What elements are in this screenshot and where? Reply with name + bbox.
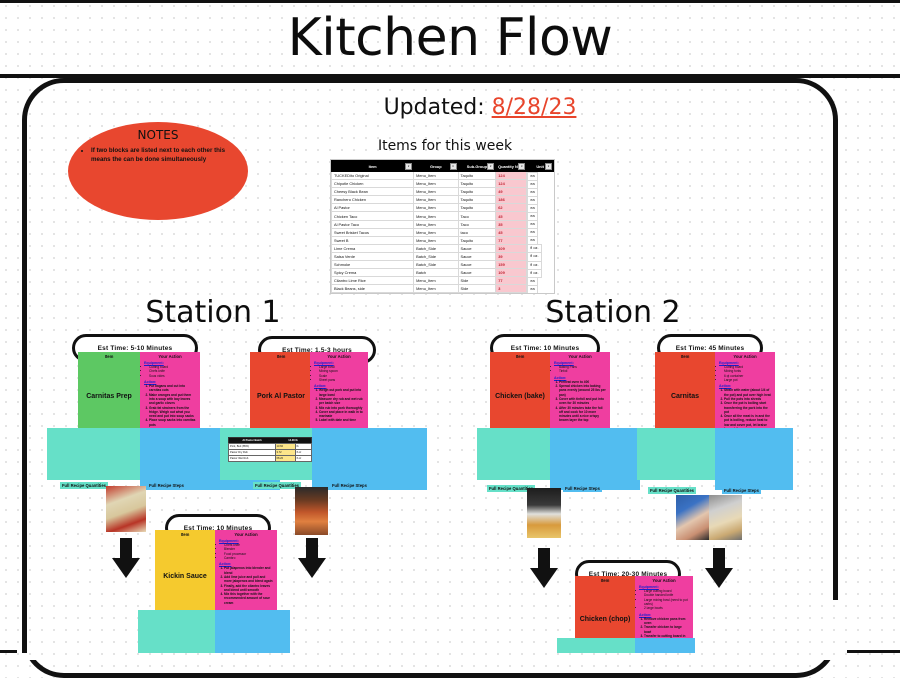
frame-left-leg xyxy=(22,595,27,653)
col-group[interactable]: Group▾ xyxy=(414,161,458,172)
table-row[interactable]: Lime CremaBatch_SideSauce109fl oz. xyxy=(332,244,554,252)
filter-icon[interactable]: ▾ xyxy=(545,163,552,170)
cell-unit: ea xyxy=(527,293,537,294)
item-column-header: Item xyxy=(575,576,635,586)
updated-line: Updated: 8/28/23 xyxy=(330,95,630,120)
cell-sub: Sauce xyxy=(458,261,496,269)
action-item: Label with date and time xyxy=(319,418,364,422)
item-column-header: Item xyxy=(155,530,215,540)
action-item: Put bagans and cut into carnitas cuts xyxy=(149,384,196,393)
cell-qty: 109 xyxy=(496,269,527,277)
cell-sub: Taquito xyxy=(458,236,496,244)
cell-qty: 45 xyxy=(496,212,527,220)
cell-sub: Taquito xyxy=(458,172,496,180)
col-group-label: Group xyxy=(430,164,442,169)
cell-qty: 77 xyxy=(496,236,527,244)
full-recipe-steps-carnitas[interactable] xyxy=(715,428,793,490)
cell-qty: 39 xyxy=(496,252,527,260)
cell-sub: Taquito xyxy=(458,196,496,204)
table-row[interactable]: TUCKEDito OriginalMenu_ItemTaquito124ea xyxy=(332,172,554,180)
table-header-row: Item▾ Group▾ Sub-Group▾ Quantity Need▾ U… xyxy=(332,161,554,172)
action-card-kickin-sauce[interactable]: Equipment:Chefs knifeBlenderFood process… xyxy=(215,536,277,612)
action-item: Measure dry rub and wet rub per batch si… xyxy=(319,397,364,406)
filter-icon[interactable]: ▾ xyxy=(487,163,494,170)
item-column-header: Item xyxy=(490,352,550,362)
items-table-title: Items for this week xyxy=(330,138,560,154)
items-spreadsheet[interactable]: Item▾ Group▾ Sub-Group▾ Quantity Need▾ U… xyxy=(330,159,555,294)
col-subgroup[interactable]: Sub-Group▾ xyxy=(458,161,496,172)
filter-icon[interactable]: ▾ xyxy=(405,163,412,170)
action-card-carnitas[interactable]: Equipment:Cutting boardMixing forks6 qt … xyxy=(715,358,775,432)
action-list: Put jalapenos into blender and blendAdd … xyxy=(219,566,273,605)
item-column-header: Item xyxy=(78,352,140,362)
batch-row: Pastor Wet Rub68.20fl oz xyxy=(229,456,312,462)
action-card-carnitas-prep[interactable]: Equipment:Cutting boardChefs knifeSous v… xyxy=(140,358,200,432)
cell-sub: Side xyxy=(458,285,496,293)
col-unit[interactable]: Unit▾ xyxy=(527,161,554,172)
batch-cell: Pastor Wet Rub xyxy=(229,456,276,462)
table-row[interactable]: Al Pastor TacoMenu_ItemTaco35ea xyxy=(332,220,554,228)
action-card-chicken-chop[interactable]: Equipment:Large cutting boardDouble hand… xyxy=(635,582,693,646)
cell-item: Citrus Sweet Corn xyxy=(332,293,414,294)
action-item: Cover with tinfoil and put into oven for… xyxy=(559,397,606,406)
action-card-chicken-bake[interactable]: Equipment:Baking PansTinfoilAction:Prehe… xyxy=(550,358,610,432)
cell-grp: Menu_Item xyxy=(414,212,458,220)
photo-pork-al-pastor xyxy=(295,487,328,535)
action-item: Add lime juice and pull and more jalapen… xyxy=(224,575,273,584)
action-item: Remove chicken pans from oven xyxy=(644,617,689,626)
equipment-list: Large cutting boardDouble handed knifeLa… xyxy=(639,589,689,611)
table-row[interactable]: Citrus Sweet CornMenu_ItemSide52ea xyxy=(332,293,554,294)
station-1-heading: Station 1 xyxy=(103,295,323,330)
arrow-station1-right xyxy=(298,538,326,580)
cell-item: Black Beans, side xyxy=(332,285,414,293)
table-row[interactable]: Sweet BMenu_ItemTaquito77ea xyxy=(332,236,554,244)
col-item-label: Item xyxy=(369,164,377,169)
cell-qty: 186 xyxy=(496,196,527,204)
table-row[interactable]: Chicken TacoMenu_ItemTaco45ea xyxy=(332,212,554,220)
filter-icon[interactable]: ▾ xyxy=(518,163,525,170)
equipment-item: Tinfoil xyxy=(559,369,606,373)
table-row[interactable]: Salsa VerdeBatch_SideSauce39fl oz. xyxy=(332,252,554,260)
full-recipe-quantities-label: Full Recipe Quantities xyxy=(60,482,108,489)
table-row[interactable]: Black Beans, sideMenu_ItemSide3ea xyxy=(332,285,554,293)
photo-chicken-bake xyxy=(527,488,561,538)
item-name: Pork Al Pastor xyxy=(257,393,305,400)
table-row[interactable]: Al PastorMenu_ItemTaquito62ea xyxy=(332,204,554,212)
cell-qty: 35 xyxy=(496,220,527,228)
action-item: Put jalapenos into blender and blend xyxy=(224,566,273,575)
action-item: Spread chicken into baking pans evenly (… xyxy=(559,384,606,397)
notes-title: NOTES xyxy=(138,128,179,142)
item-column-header: Item xyxy=(655,352,715,362)
equipment-item: Sheet pans xyxy=(319,378,364,382)
table-row[interactable]: Chipotle ChickenMenu_ItemTaquito124ea xyxy=(332,180,554,188)
table-row[interactable]: Cheesy Black BeanMenu_ItemTaquito49ea xyxy=(332,188,554,196)
cell-item: Sweet Brisket Tacos xyxy=(332,228,414,236)
cell-sub: Taco xyxy=(458,220,496,228)
cell-item: TUCKEDito Original xyxy=(332,172,414,180)
cell-grp: Menu_Item xyxy=(414,236,458,244)
cell-sub: Side xyxy=(458,293,496,294)
photo-carnitas-prep xyxy=(106,486,146,532)
cell-item: Salsa Verde xyxy=(332,252,414,260)
action-list: Strain with water (about 1/4 of the pot)… xyxy=(719,388,771,431)
full-recipe-steps-label: Full Recipe Steps xyxy=(563,485,602,492)
col-subgroup-label: Sub-Group xyxy=(467,164,487,169)
cell-qty: 77 xyxy=(496,277,527,285)
station-2-heading: Station 2 xyxy=(503,295,723,330)
batch-cell: 68.20 xyxy=(275,456,295,462)
col-quantity[interactable]: Quantity Need▾ xyxy=(496,161,527,172)
cell-qty: 124 xyxy=(496,180,527,188)
cell-item: Spicy Crema xyxy=(332,269,414,277)
cell-grp: Menu_Item xyxy=(414,180,458,188)
cell-grp: Batch xyxy=(414,269,458,277)
cell-sub: taco xyxy=(458,228,496,236)
full-recipe-steps-kickin-sauce[interactable] xyxy=(215,610,290,653)
cell-qty: 159 xyxy=(496,261,527,269)
cell-item: Chipotle Chicken xyxy=(332,180,414,188)
cell-sub: Sauce xyxy=(458,244,496,252)
cell-sub: Sauce xyxy=(458,269,496,277)
action-list: Weigh out pork and put into large bowlMe… xyxy=(314,388,364,423)
item-name: Carnitas Prep xyxy=(86,393,132,400)
table-row[interactable]: Ranchero ChickenMenu_ItemTaquito186ea xyxy=(332,196,554,204)
action-item: Strain with water (about 1/4 of the pot)… xyxy=(724,388,771,397)
filter-icon[interactable]: ▾ xyxy=(450,163,457,170)
full-recipe-steps-chicken-chop[interactable] xyxy=(635,638,695,653)
cell-grp: Menu_Item xyxy=(414,277,458,285)
cell-item: Al Pastor Taco xyxy=(332,220,414,228)
cell-grp: Menu_Item xyxy=(414,172,458,180)
action-card-pork-al-pastor[interactable]: Equipment:Large bowlMixing spoonScaleShe… xyxy=(310,358,368,432)
cell-sub: Side xyxy=(458,277,496,285)
equipment-list: Cutting boardMixing forks6 qt containerL… xyxy=(719,365,771,382)
notes-item: If two blocks are listed next to each ot… xyxy=(91,146,241,165)
full-recipe-steps-chicken-bake[interactable] xyxy=(550,428,640,490)
equipment-item: Sous vides xyxy=(149,374,196,378)
cell-sub: Sauce xyxy=(458,252,496,260)
item-card-chicken-bake[interactable]: Chicken (bake) xyxy=(490,362,550,430)
action-item: Once the pot is boiling start transferri… xyxy=(724,401,771,414)
notes-bubble: NOTES If two blocks are listed next to e… xyxy=(68,122,248,220)
cell-qty: 3 xyxy=(496,285,527,293)
cell-grp: Menu_Item xyxy=(414,204,458,212)
est-time-label: Est Time: 45 Minutes xyxy=(676,345,745,352)
arrow-station1-left xyxy=(112,538,140,580)
cell-qty: 52 xyxy=(496,293,527,294)
batch-cell: fl oz xyxy=(295,456,311,462)
item-card-kickin-sauce[interactable]: Kickin Sauce xyxy=(155,540,215,612)
cell-grp: Menu_Item xyxy=(414,220,458,228)
full-recipe-steps-label: Full Recipe Steps xyxy=(722,487,761,494)
item-card-pork-al-pastor[interactable]: Pork Al Pastor xyxy=(250,362,312,430)
col-item[interactable]: Item▾ xyxy=(332,161,414,172)
equipment-item: Cambro xyxy=(224,556,273,560)
cell-grp: Menu_Item xyxy=(414,196,458,204)
item-card-carnitas[interactable]: Carnitas xyxy=(655,362,715,430)
action-list: Preheat oven to 400Spread chicken into b… xyxy=(554,380,606,423)
item-name: Kickin Sauce xyxy=(163,573,207,580)
cell-item: Cheesy Black Bean xyxy=(332,188,414,196)
items-table: Item▾ Group▾ Sub-Group▾ Quantity Need▾ U… xyxy=(331,160,554,294)
equipment-item: Large mixing bowl (need to put carbs) xyxy=(644,598,689,607)
item-card-carnitas-prep[interactable]: Carnitas Prep xyxy=(78,362,140,430)
cell-item: Cilantro Lime Rice xyxy=(332,277,414,285)
cell-item: Ranchero Chicken xyxy=(332,196,414,204)
full-recipe-steps-label: Full Recipe Steps xyxy=(147,482,186,489)
page-title: Kitchen Flow xyxy=(0,8,900,68)
cell-qty: 62 xyxy=(496,204,527,212)
equipment-item: Large pot xyxy=(724,378,771,382)
cell-qty: 49 xyxy=(496,188,527,196)
table-row[interactable]: Spicy CremaBatchSauce109fl oz. xyxy=(332,269,554,277)
photo-carnitas-b xyxy=(709,495,742,540)
table-row[interactable]: SchmokeBatch_SideSauce159fl oz. xyxy=(332,261,554,269)
action-item: Transfer chicken to large bowl xyxy=(644,625,689,634)
full-recipe-steps-label: Full Recipe Steps xyxy=(330,482,369,489)
cell-item: Schmoke xyxy=(332,261,414,269)
cell-item: Al Pastor xyxy=(332,204,414,212)
cell-grp: Batch_Side xyxy=(414,244,458,252)
equipment-list: Cutting boardChefs knifeSous vides xyxy=(144,365,196,378)
cell-qty: 124 xyxy=(496,172,527,180)
updated-date[interactable]: 8/28/23 xyxy=(492,95,577,120)
equipment-list: Large bowlMixing spoonScaleSheet pans xyxy=(314,365,364,382)
equipment-item: 2 large bowls xyxy=(644,606,689,610)
item-column-header: Item xyxy=(250,352,312,362)
cell-grp: Menu_Item xyxy=(414,285,458,293)
table-row[interactable]: Sweet Brisket TacosMenu_Itemtaco45ea xyxy=(332,228,554,236)
cell-sub: Taco xyxy=(458,212,496,220)
cell-grp: Menu_Item xyxy=(414,228,458,236)
col-unit-label: Unit xyxy=(536,164,544,169)
action-item: Grab fat strainers from the fridge. Weig… xyxy=(149,406,196,419)
action-list: Put bagans and cut into carnitas cutsMak… xyxy=(144,384,196,427)
item-name: Chicken (bake) xyxy=(495,393,545,400)
full-recipe-quantities-label: Full Recipe Quantities xyxy=(648,487,696,494)
cell-grp: Batch_Side xyxy=(414,261,458,269)
full-recipe-quantities-label: Full Recipe Quantities xyxy=(253,482,301,489)
action-item: Cover and place in walk in to marinate xyxy=(319,410,364,419)
item-name: Carnitas xyxy=(671,393,699,400)
action-item: Place soup sacks into carnitas pots xyxy=(149,418,196,427)
items-table-body: TUCKEDito OriginalMenu_ItemTaquito124eaC… xyxy=(332,172,554,295)
batch-table-pork-al-pastor: Al Pastor Batch14.00 lbPork, Butt (85%)1… xyxy=(228,437,312,462)
equipment-list: Baking PansTinfoil xyxy=(554,365,606,374)
item-name: Chicken (chop) xyxy=(580,616,631,623)
equipment-list: Chefs knifeBlenderFood processorCambro xyxy=(219,543,273,560)
top-rule xyxy=(0,0,900,3)
cell-qty: 45 xyxy=(496,228,527,236)
full-recipe-steps-pork-al-pastor[interactable] xyxy=(312,428,427,490)
cell-qty: 109 xyxy=(496,244,527,252)
notes-list: If two blocks are listed next to each ot… xyxy=(75,146,241,165)
table-row[interactable]: Cilantro Lime RiceMenu_ItemSide77ea xyxy=(332,277,554,285)
est-time-label: Est Time: 10 Minutes xyxy=(511,345,580,352)
updated-label: Updated: xyxy=(384,95,485,120)
action-item: Weigh out pork and put into large bowl xyxy=(319,388,364,397)
action-item: Mix this together with the recommended a… xyxy=(224,592,273,605)
cell-grp: Menu_Item xyxy=(414,293,458,294)
action-item: After 30 minutes take the foil off and c… xyxy=(559,406,606,423)
est-time-label: Est Time: 5-10 Minutes xyxy=(98,345,173,352)
cell-sub: Taquito xyxy=(458,204,496,212)
arrow-station2-left xyxy=(530,548,558,590)
cell-grp: Batch_Side xyxy=(414,252,458,260)
cell-item: Lime Crema xyxy=(332,244,414,252)
cell-item: Chicken Taco xyxy=(332,212,414,220)
cell-item: Sweet B xyxy=(332,236,414,244)
photo-carnitas-a xyxy=(676,495,709,540)
cell-sub: Taquito xyxy=(458,188,496,196)
cell-sub: Taquito xyxy=(458,180,496,188)
arrow-station2-right xyxy=(705,548,733,590)
cell-grp: Menu_Item xyxy=(414,188,458,196)
action-item: Finally, add the cilantro leaves and ble… xyxy=(224,584,273,593)
action-item: Make oranges and put them into a soup wi… xyxy=(149,393,196,406)
